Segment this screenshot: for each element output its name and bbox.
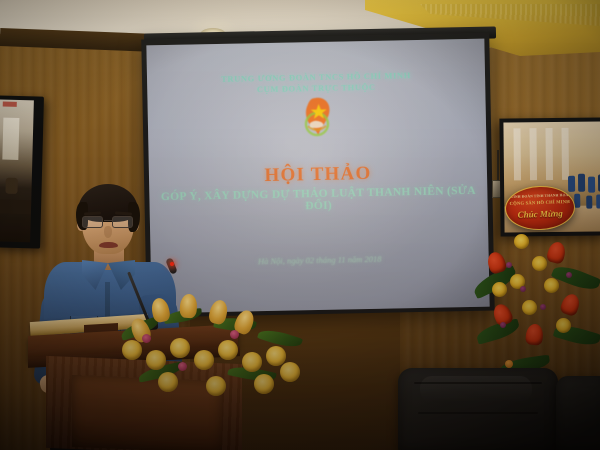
lily-flower bbox=[206, 376, 226, 396]
lens-left bbox=[82, 216, 103, 228]
lily-flower bbox=[544, 278, 559, 293]
left-monitor-screen bbox=[0, 99, 34, 242]
mouth bbox=[99, 242, 118, 248]
monitor-feed-person bbox=[578, 174, 585, 192]
lily-flower bbox=[492, 282, 507, 297]
glasses-bridge bbox=[104, 220, 113, 221]
foliage-leaf bbox=[551, 262, 600, 295]
anthurium-flower bbox=[546, 240, 568, 264]
lens-right bbox=[112, 216, 133, 228]
monitor-feed-object bbox=[5, 178, 17, 194]
lily-flower bbox=[254, 374, 274, 394]
monitor-feed-accent bbox=[3, 102, 17, 107]
lily-flower bbox=[158, 372, 178, 392]
lily-flower bbox=[556, 318, 571, 333]
monitor-feed-pillar bbox=[561, 128, 569, 180]
sign-line-2: CỘNG SẢN HỒ CHÍ MINH bbox=[506, 199, 574, 206]
orchid-bud bbox=[500, 322, 506, 328]
monitor-feed-pillar bbox=[545, 128, 553, 180]
lily-flower bbox=[532, 256, 547, 271]
monitor-feed-person bbox=[568, 176, 575, 192]
accent-flower bbox=[230, 330, 239, 339]
executive-chair bbox=[398, 368, 558, 450]
executive-chair bbox=[556, 376, 600, 450]
accent-flower bbox=[142, 334, 151, 343]
lily-flower bbox=[170, 338, 190, 358]
projection-screen-frame: TRUNG ƯƠNG ĐOÀN TNCS HỒ CHÍ MINH CỤM ĐOÀ… bbox=[141, 33, 495, 318]
monitor-feed-pillar bbox=[513, 128, 521, 180]
anthurium-flower bbox=[559, 292, 582, 318]
monitor-feed-table bbox=[0, 199, 31, 214]
monitor-feed-window bbox=[2, 118, 19, 160]
conference-photo-scene: TRUNG ƯƠNG ĐOÀN TNCS HỒ CHÍ MINH CỤM ĐOÀ… bbox=[0, 0, 600, 450]
orchid-bud bbox=[540, 304, 546, 310]
projection-screen: TRUNG ƯƠNG ĐOÀN TNCS HỒ CHÍ MINH CỤM ĐOÀ… bbox=[146, 39, 489, 314]
lily-flower bbox=[218, 340, 238, 360]
monitor-feed-person bbox=[588, 177, 595, 193]
orange-flower bbox=[505, 360, 513, 368]
lily-flower bbox=[522, 300, 537, 315]
lily-flower bbox=[280, 362, 300, 382]
nose bbox=[104, 226, 112, 238]
lily-flower bbox=[514, 234, 529, 249]
monitor-feed-person bbox=[586, 196, 592, 209]
orchid-bud bbox=[566, 272, 572, 278]
calla-flower bbox=[179, 293, 198, 318]
monitor-feed-person bbox=[574, 194, 580, 208]
flower-arrangement-podium bbox=[118, 292, 308, 400]
chair-seam bbox=[414, 382, 542, 384]
orchid-bud bbox=[506, 262, 512, 268]
lily-flower bbox=[122, 340, 142, 360]
wall-bracket-arm bbox=[497, 150, 499, 182]
youth-union-emblem-icon bbox=[295, 96, 338, 143]
microphone-active-led-icon bbox=[170, 262, 174, 266]
slide-subtitle: GÓP Ý, XÂY DỰNG DỰ THẢO LUẬT THANH NIÊN … bbox=[153, 185, 483, 216]
lily-flower bbox=[194, 350, 214, 370]
monitor-feed-pillar bbox=[529, 128, 537, 180]
lily-flower bbox=[242, 352, 262, 372]
slide-date-line: Hà Nội, ngày 02 tháng 11 năm 2018 bbox=[151, 252, 489, 269]
lily-flower bbox=[146, 350, 166, 370]
monitor-feed-person bbox=[596, 194, 600, 208]
anthurium-flower bbox=[525, 323, 544, 346]
orchid-bud bbox=[520, 286, 526, 292]
accent-flower bbox=[178, 362, 187, 371]
chair-highlight bbox=[420, 376, 532, 402]
chair-seam bbox=[418, 412, 538, 414]
